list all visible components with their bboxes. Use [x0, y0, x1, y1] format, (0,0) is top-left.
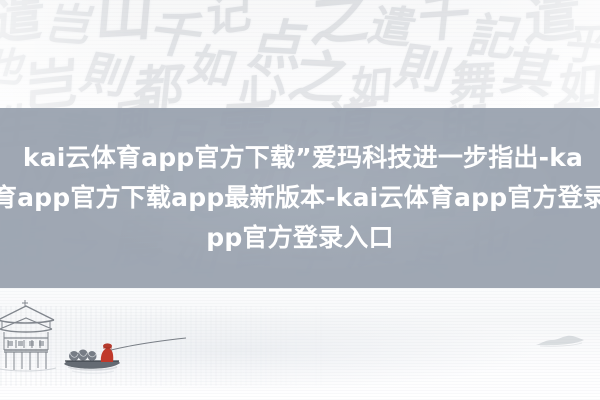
ink-wash-lake-scene [0, 288, 600, 400]
headline-line-1: kai云体育app官方下载”爱玛科技进一步指出-ka [23, 138, 583, 178]
lakeside-pavilion [0, 298, 58, 380]
headline-line-3: pp官方登录入口 [206, 218, 393, 258]
promo-banner: 遣 岂 山 千 记 点 之 遣 千 記 遣 乎 也 岂 則 都 如 心 之 如 … [0, 0, 600, 400]
distant-island [534, 334, 586, 348]
headline-line-2: 育app官方下载app最新版本-kai云体育app官方登录 [0, 178, 600, 218]
headline-block: kai云体育app官方下载”爱玛科技进一步指出-ka 育app官方下载app最新… [0, 108, 600, 288]
fishing-boat [62, 336, 192, 380]
